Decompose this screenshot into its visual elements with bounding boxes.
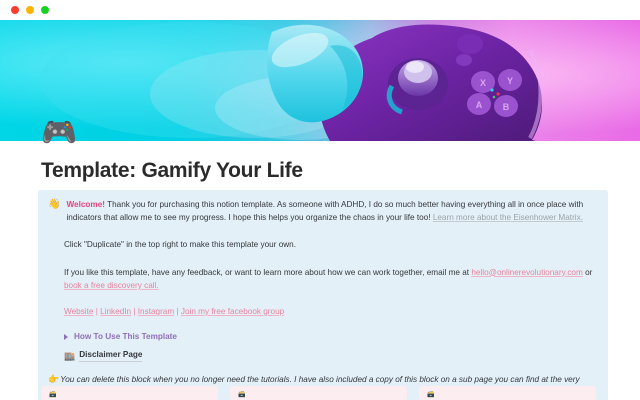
cover-image[interactable]: X Y A B — [0, 20, 640, 141]
welcome-callout-block[interactable]: 👋 Welcome! Thank you for purchasing this… — [38, 190, 608, 400]
contact-email-link[interactable]: hello@onlinerevolutionary.com — [471, 268, 582, 277]
contact-text-part2: or — [583, 268, 593, 277]
page-icon-game-controller-emoji[interactable]: 🎮 — [41, 116, 75, 150]
discovery-call-link[interactable]: book a free discovery call. — [64, 281, 159, 290]
page-title: Template: Gamify Your Life — [41, 159, 303, 183]
cover-image-graphic: X Y A B — [0, 20, 640, 141]
building-icon: 🏬 — [64, 350, 75, 362]
svg-text:Y: Y — [507, 76, 513, 86]
linkedin-link[interactable]: LinkedIn — [100, 307, 131, 316]
card-box-icon: 🗃️ — [49, 392, 56, 399]
instagram-link[interactable]: Instagram — [138, 307, 174, 316]
callout-main-row: 👋 Welcome! Thank you for purchasing this… — [48, 198, 598, 224]
disclaimer-page-link[interactable]: 🏬 Disclaimer Page — [48, 349, 598, 362]
card-box-icon: 🗃️ — [427, 392, 434, 399]
how-to-use-toggle[interactable]: How To Use This Template — [48, 331, 598, 343]
svg-text:A: A — [476, 100, 483, 110]
svg-text:X: X — [480, 78, 486, 88]
duplicate-instruction-paragraph: Click "Duplicate" in the top right to ma… — [48, 238, 598, 251]
close-window-button[interactable] — [11, 6, 19, 14]
website-link[interactable]: Website — [64, 307, 93, 316]
waving-hand-icon: 👋 — [48, 198, 60, 211]
welcome-label: Welcome! — [66, 200, 105, 209]
minimize-window-button[interactable] — [26, 6, 34, 14]
social-links-row: Website | LinkedIn | Instagram | Join my… — [48, 305, 598, 318]
links-separator-2: | — [131, 307, 138, 316]
contact-paragraph: If you like this template, have any feed… — [48, 266, 598, 292]
chevron-right-icon[interactable] — [64, 334, 68, 340]
card-box-icon: 🗃️ — [238, 392, 245, 399]
window-titlebar — [0, 0, 640, 20]
links-separator-3: | — [174, 307, 181, 316]
disclaimer-page-label: Disclaimer Page — [79, 349, 142, 362]
facebook-group-link[interactable]: Join my free facebook group — [181, 307, 284, 316]
page-body: Template: Gamify Your Life 👋 Welcome! Th… — [0, 141, 640, 400]
bottom-card[interactable]: 🗃️ — [41, 386, 218, 400]
bottom-card[interactable]: 🗃️ — [419, 386, 596, 400]
eisenhower-matrix-link[interactable]: Learn more about the Eisenhower Matrix. — [433, 213, 583, 222]
pointing-right-icon: 👉 — [48, 373, 59, 386]
callout-welcome-text: Welcome! Thank you for purchasing this n… — [66, 198, 598, 224]
contact-text-part1: If you like this template, have any feed… — [64, 268, 471, 277]
svg-text:B: B — [503, 102, 510, 112]
maximize-window-button[interactable] — [41, 6, 49, 14]
bottom-card[interactable]: 🗃️ — [230, 386, 407, 400]
bottom-card-row: 🗃️ 🗃️ 🗃️ — [0, 386, 640, 400]
how-to-use-toggle-label: How To Use This Template — [74, 331, 177, 343]
browser-window: X Y A B 🎮 Template: Gamify Your Life 👋 W — [0, 0, 640, 400]
